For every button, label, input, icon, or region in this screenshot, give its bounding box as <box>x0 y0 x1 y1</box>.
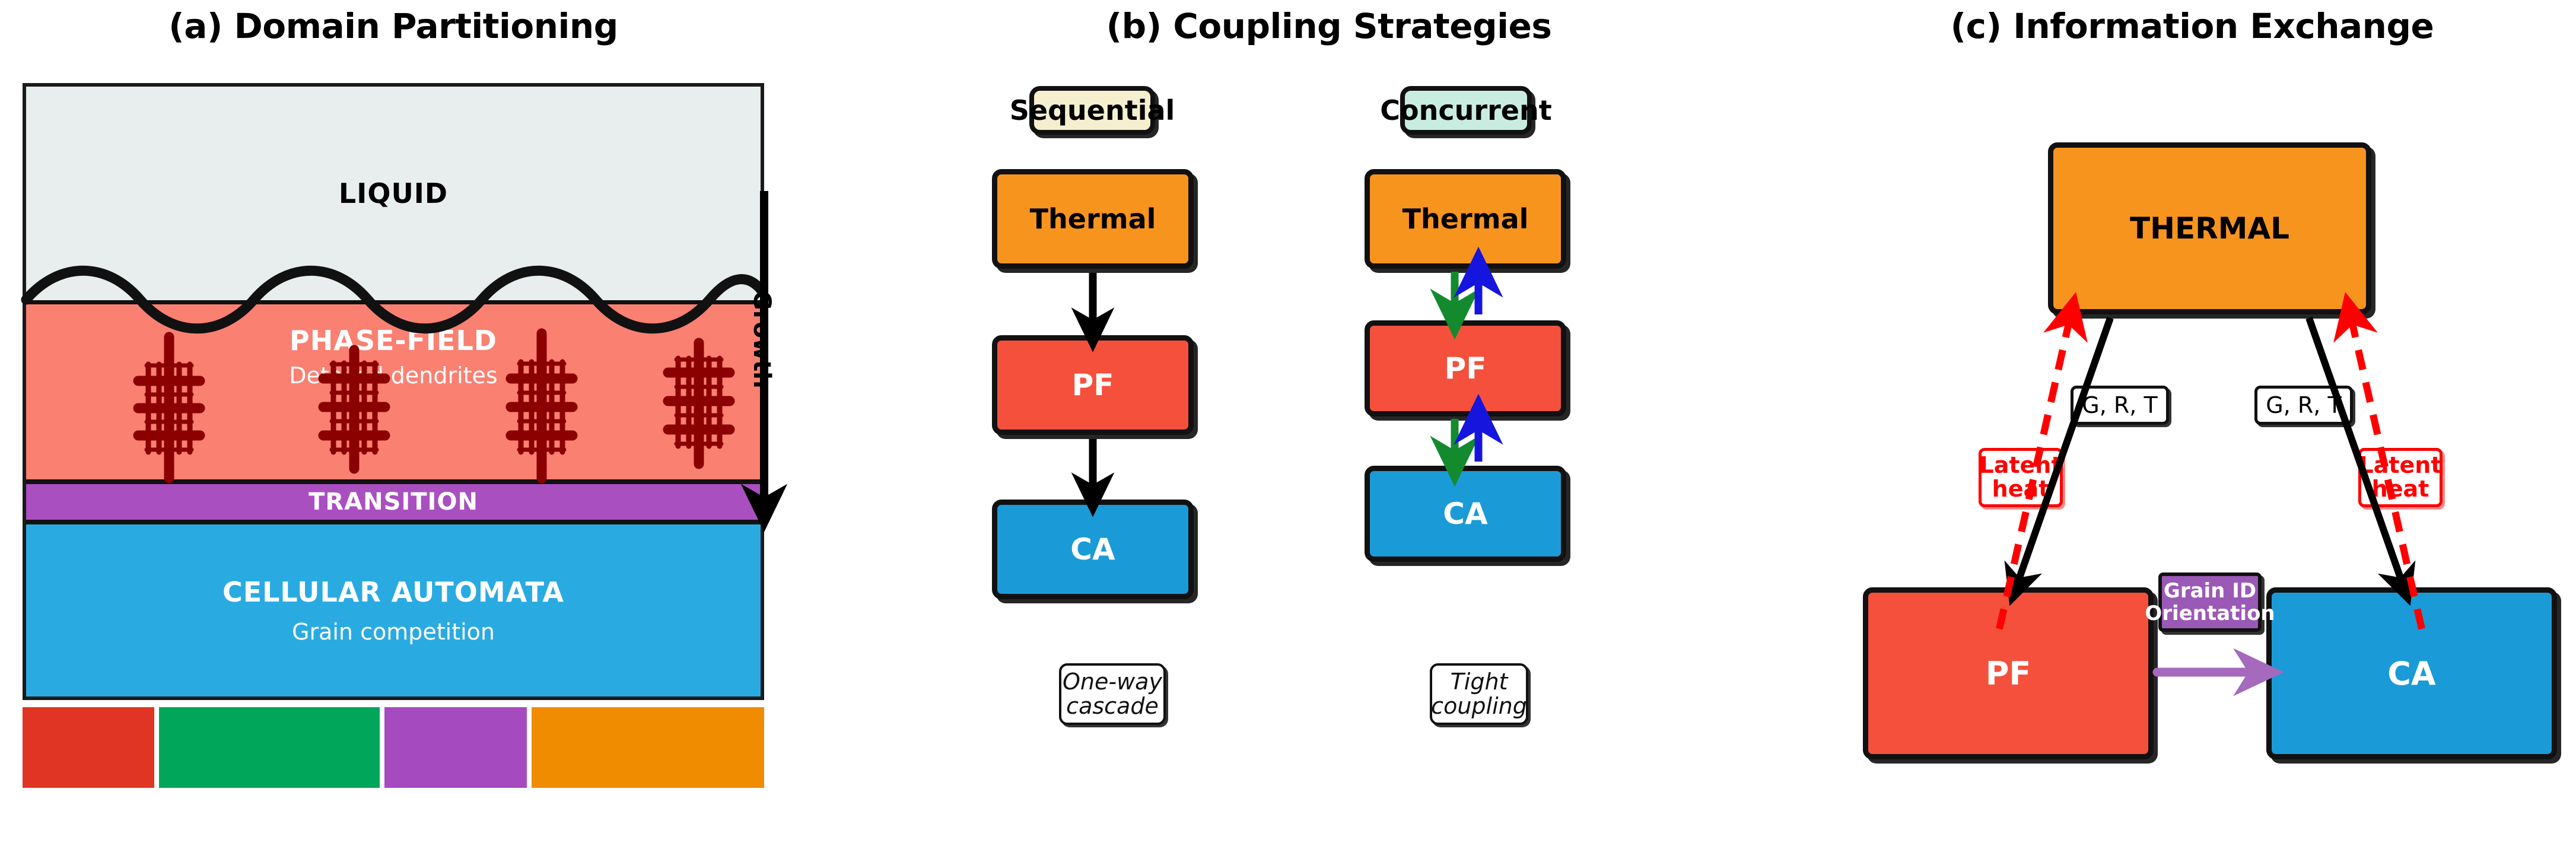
seq-node-thermal-label: Thermal <box>1030 203 1156 235</box>
info-node-thermal-label: THERMAL <box>2130 211 2289 246</box>
info-node-pf-label: PF <box>1986 655 2031 692</box>
seq-node-thermal[interactable]: Thermal <box>992 169 1194 269</box>
info-node-ca[interactable]: CA <box>2266 587 2557 759</box>
conc-caption-box: Tight coupling <box>1430 663 1528 725</box>
region-liquid: LIQUID <box>26 87 761 300</box>
conc-node-pf[interactable]: PF <box>1365 320 1566 416</box>
tag-latent-heat-right: Latent heat <box>2358 448 2443 507</box>
conc-node-thermal-label: Thermal <box>1403 203 1529 235</box>
figure-canvas: (a) Domain Partitioning LIQUID PHASE-FIE… <box>0 0 2576 846</box>
conc-node-ca[interactable]: CA <box>1365 466 1566 562</box>
conc-caption-line-1: Tight <box>1451 670 1508 694</box>
grain-cell-3 <box>384 707 527 788</box>
tag-latent-heat-left-line-2: heat <box>1992 478 2050 501</box>
conc-node-pf-label: PF <box>1445 351 1487 386</box>
info-node-thermal[interactable]: THERMAL <box>2048 142 2371 314</box>
conc-node-ca-label: CA <box>1443 497 1487 531</box>
panel-c-title: (c) Information Exchange <box>1827 6 2557 46</box>
growth-direction-label: Growth <box>748 291 775 389</box>
tag-latent-heat-right-line-2: heat <box>2372 478 2429 501</box>
seq-node-ca-label: CA <box>1070 532 1115 567</box>
tag-latent-heat-left-line-1: Latent <box>1980 454 2062 478</box>
grain-cell-1 <box>23 707 154 788</box>
seq-caption-box: One-way cascade <box>1059 663 1166 725</box>
info-node-pf[interactable]: PF <box>1863 587 2154 759</box>
strategy-badge-sequential[interactable]: Sequential <box>1029 86 1155 135</box>
region-cellular-automata-sublabel: Grain competition <box>292 619 495 645</box>
exchange-badge-line-2: Orientation <box>2145 602 2275 625</box>
exchange-badge-line-1: Grain ID <box>2164 580 2256 602</box>
panel-a-title: (a) Domain Partitioning <box>23 6 764 46</box>
grain-color-strip <box>23 707 764 788</box>
seq-node-pf-label: PF <box>1072 368 1114 402</box>
region-transition-label: TRANSITION <box>309 488 478 516</box>
region-phase-field-label: PHASE-FIELD <box>290 325 497 357</box>
tag-latent-heat-left: Latent heat <box>1979 448 2063 507</box>
region-phase-field: PHASE-FIELD Detailed dendrites <box>26 300 761 484</box>
exchange-badge-grain-id: Grain ID Orientation <box>2158 573 2262 632</box>
conc-node-thermal[interactable]: Thermal <box>1365 169 1566 269</box>
conc-caption-line-2: coupling <box>1431 694 1527 718</box>
grain-cell-2 <box>159 707 380 788</box>
info-node-ca-label: CA <box>2387 655 2435 692</box>
region-cellular-automata-label: CELLULAR AUTOMATA <box>222 576 564 608</box>
seq-node-ca[interactable]: CA <box>992 500 1194 599</box>
domain-partitioning-frame: LIQUID PHASE-FIELD Detailed dendrites TR… <box>23 83 764 700</box>
region-cellular-automata: CELLULAR AUTOMATA Grain competition <box>26 524 761 696</box>
tag-grt-right: G, R, T <box>2254 386 2353 425</box>
grain-cell-4 <box>532 707 764 788</box>
tag-latent-heat-right-line-1: Latent <box>2359 454 2442 478</box>
region-transition: TRANSITION <box>26 484 761 524</box>
seq-caption-line-1: One-way <box>1063 670 1162 694</box>
panel-b-title: (b) Coupling Strategies <box>979 6 1679 46</box>
region-liquid-label: LIQUID <box>339 177 448 209</box>
seq-node-pf[interactable]: PF <box>992 335 1194 435</box>
strategy-badge-concurrent[interactable]: Concurrent <box>1400 86 1532 135</box>
seq-caption-line-2: cascade <box>1066 694 1159 718</box>
region-phase-field-sublabel: Detailed dendrites <box>289 362 497 389</box>
tag-grt-left: G, R, T <box>2071 386 2169 425</box>
